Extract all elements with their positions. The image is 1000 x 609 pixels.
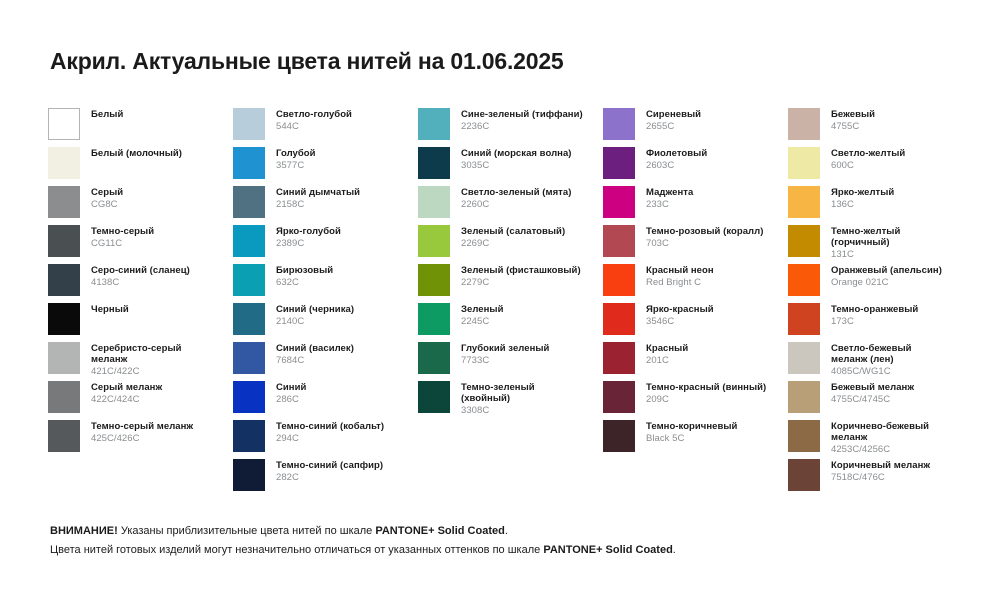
color-code: CG11C <box>91 238 154 249</box>
color-swatch[interactable] <box>233 303 265 335</box>
color-code: 2269C <box>461 238 565 249</box>
color-labels: Фиолетовый2603C <box>646 147 707 171</box>
color-code: 209C <box>646 394 766 405</box>
color-labels: Серо-синий (сланец)4138C <box>91 264 190 288</box>
color-swatch[interactable] <box>418 264 450 296</box>
color-swatch[interactable] <box>418 342 450 374</box>
color-labels: Светло-голубой544C <box>276 108 352 132</box>
color-name: Красный <box>646 343 688 354</box>
color-row[interactable]: Ярко-желтый136C <box>788 186 1000 225</box>
color-name: Светло-желтый <box>831 148 905 159</box>
color-swatch[interactable] <box>788 420 820 452</box>
color-labels: Коричневый меланж7518C/476C <box>831 459 930 483</box>
color-name: Синий дымчатый <box>276 187 360 198</box>
color-swatch[interactable] <box>788 381 820 413</box>
color-row[interactable]: Бежевый4755C <box>788 108 1000 147</box>
color-code: 233C <box>646 199 693 210</box>
color-labels: Оранжевый (апельсин)Orange 021C <box>831 264 942 288</box>
color-labels: Глубокий зеленый7733C <box>461 342 549 366</box>
color-row[interactable]: Фиолетовый2603C <box>603 147 788 186</box>
color-row[interactable]: Красный201C <box>603 342 788 381</box>
color-code: 600C <box>831 160 905 171</box>
color-labels: Темно-коричневыйBlack 5C <box>646 420 737 444</box>
footer-line-2-text: Цвета нитей готовых изделий могут незнач… <box>50 544 543 556</box>
color-code: 2245C <box>461 316 503 327</box>
color-row[interactable]: Синий286C <box>233 381 418 420</box>
color-code: 3308C <box>461 405 571 416</box>
color-labels: Красный201C <box>646 342 688 366</box>
color-row[interactable]: Черный <box>48 303 233 342</box>
color-labels: Маджента233C <box>646 186 693 210</box>
color-labels: Красный неонRed Bright C <box>646 264 714 288</box>
color-row[interactable]: Ярко-красный3546C <box>603 303 788 342</box>
color-labels: Темно-оранжевый173C <box>831 303 918 327</box>
color-row[interactable]: Белый (молочный) <box>48 147 233 186</box>
color-columns-container: БелыйБелый (молочный)СерыйCG8CТемно-серы… <box>48 108 1000 498</box>
footer-line-2: Цвета нитей готовых изделий могут незнач… <box>50 541 950 560</box>
color-row[interactable]: Коричнево-бежевый меланж4253C/4256C <box>788 420 1000 459</box>
color-swatch[interactable] <box>233 108 265 140</box>
color-code: 2603C <box>646 160 707 171</box>
color-name: Синий (василек) <box>276 343 354 354</box>
color-labels: Синий (морская волна)3035C <box>461 147 572 171</box>
color-labels: Темно-розовый (коралл)703C <box>646 225 763 249</box>
color-swatch[interactable] <box>603 303 635 335</box>
color-row[interactable]: Зеленый (фисташковый)2279C <box>418 264 603 303</box>
color-labels: Темно-синий (сапфир)282C <box>276 459 383 483</box>
color-name: Синий <box>276 382 306 393</box>
color-swatch[interactable] <box>48 108 80 140</box>
color-name: Черный <box>91 304 129 315</box>
color-code: Orange 021C <box>831 277 942 288</box>
color-row[interactable]: Зеленый (салатовый)2269C <box>418 225 603 264</box>
color-labels: Светло-желтый600C <box>831 147 905 171</box>
color-swatch[interactable] <box>418 225 450 257</box>
color-name: Темно-зеленый (хвойный) <box>461 382 571 404</box>
color-swatch[interactable] <box>418 303 450 335</box>
color-name: Темно-серый меланж <box>91 421 193 432</box>
color-row[interactable]: Темно-серый меланж425C/426C <box>48 420 233 459</box>
page-title: Акрил. Актуальные цвета нитей на 01.06.2… <box>50 48 564 75</box>
color-labels: Светло-бежевый меланж (лен)4085C/WG1C <box>831 342 941 378</box>
color-name: Белый (молочный) <box>91 148 182 159</box>
color-labels: Темно-зеленый (хвойный)3308C <box>461 381 571 417</box>
color-code: 3546C <box>646 316 714 327</box>
color-code: 282C <box>276 472 383 483</box>
color-labels: Синий дымчатый2158C <box>276 186 360 210</box>
color-name: Темно-розовый (коралл) <box>646 226 763 237</box>
color-code: 2655C <box>646 121 701 132</box>
color-labels: Черный <box>91 303 129 315</box>
footer-notice: ВНИМАНИЕ! Указаны приблизительные цвета … <box>50 522 950 560</box>
color-code: 7733C <box>461 355 549 366</box>
color-row[interactable]: Коричневый меланж7518C/476C <box>788 459 1000 498</box>
color-swatch[interactable] <box>418 381 450 413</box>
color-labels: Серебристо-серый меланж421C/422C <box>91 342 201 378</box>
color-swatch[interactable] <box>418 108 450 140</box>
color-name: Синий (морская волна) <box>461 148 572 159</box>
color-row[interactable]: Синий (морская волна)3035C <box>418 147 603 186</box>
color-name: Сине-зеленый (тиффани) <box>461 109 583 120</box>
color-labels: Зеленый (салатовый)2269C <box>461 225 565 249</box>
color-row[interactable]: Светло-бежевый меланж (лен)4085C/WG1C <box>788 342 1000 381</box>
color-row[interactable]: Светло-желтый600C <box>788 147 1000 186</box>
color-labels: Белый <box>91 108 123 120</box>
color-labels: Серый меланж422C/424C <box>91 381 162 405</box>
color-labels: Темно-серыйCG11C <box>91 225 154 249</box>
color-code: 2260C <box>461 199 571 210</box>
color-code: 2140C <box>276 316 354 327</box>
color-labels: Ярко-голубой2389C <box>276 225 341 249</box>
footer-attention-label: ВНИМАНИЕ! <box>50 525 118 537</box>
color-code: 422C/424C <box>91 394 162 405</box>
color-row[interactable]: Темно-розовый (коралл)703C <box>603 225 788 264</box>
color-swatch[interactable] <box>233 186 265 218</box>
color-row[interactable]: Темно-коричневыйBlack 5C <box>603 420 788 459</box>
color-name: Коричнево-бежевый меланж <box>831 421 941 443</box>
color-name: Белый <box>91 109 123 120</box>
color-name: Серо-синий (сланец) <box>91 265 190 276</box>
color-code: 3035C <box>461 160 572 171</box>
color-row[interactable]: Бирюзовый632C <box>233 264 418 303</box>
color-row[interactable]: Серый меланж422C/424C <box>48 381 233 420</box>
color-swatch[interactable] <box>603 420 635 452</box>
color-name: Светло-голубой <box>276 109 352 120</box>
color-labels: СерыйCG8C <box>91 186 123 210</box>
footer-line-1-end: . <box>505 525 508 537</box>
color-code: 632C <box>276 277 333 288</box>
color-name: Темно-серый <box>91 226 154 237</box>
footer-line-1: ВНИМАНИЕ! Указаны приблизительные цвета … <box>50 522 950 541</box>
color-labels: Светло-зеленый (мята)2260C <box>461 186 571 210</box>
color-name: Красный неон <box>646 265 714 276</box>
color-row[interactable]: Синий (черника)2140C <box>233 303 418 342</box>
color-code: 2279C <box>461 277 581 288</box>
color-row[interactable]: Зеленый2245C <box>418 303 603 342</box>
color-row[interactable]: Оранжевый (апельсин)Orange 021C <box>788 264 1000 303</box>
color-swatch[interactable] <box>48 186 80 218</box>
color-row[interactable]: СерыйCG8C <box>48 186 233 225</box>
color-code: 4253C/4256C <box>831 444 941 455</box>
color-labels: Белый (молочный) <box>91 147 182 159</box>
color-labels: Синий (василек)7684C <box>276 342 354 366</box>
color-name: Коричневый меланж <box>831 460 930 471</box>
color-swatch[interactable] <box>788 342 820 374</box>
color-swatch[interactable] <box>48 303 80 335</box>
color-row[interactable]: Светло-голубой544C <box>233 108 418 147</box>
column-warm-browns: Бежевый4755CСветло-желтый600CЯрко-желтый… <box>788 108 1000 498</box>
color-name: Темно-синий (сапфир) <box>276 460 383 471</box>
color-swatch[interactable] <box>603 147 635 179</box>
color-code: 4755C <box>831 121 875 132</box>
color-code: 2236C <box>461 121 583 132</box>
color-code: 131C <box>831 249 941 260</box>
color-name: Оранжевый (апельсин) <box>831 265 942 276</box>
column-greens: Сине-зеленый (тиффани)2236CСиний (морска… <box>418 108 603 420</box>
color-code: 425C/426C <box>91 433 193 444</box>
color-swatch[interactable] <box>603 264 635 296</box>
color-swatch[interactable] <box>48 342 80 374</box>
color-swatch[interactable] <box>233 225 265 257</box>
color-row[interactable]: Сине-зеленый (тиффани)2236C <box>418 108 603 147</box>
color-row[interactable]: Бежевый меланж4755C/4745C <box>788 381 1000 420</box>
color-row[interactable]: Сиреневый2655C <box>603 108 788 147</box>
color-name: Серый меланж <box>91 382 162 393</box>
color-row[interactable]: Темно-красный (винный)209C <box>603 381 788 420</box>
color-swatch[interactable] <box>233 459 265 491</box>
color-name: Зеленый <box>461 304 503 315</box>
color-swatch[interactable] <box>48 420 80 452</box>
footer-brand-2: PANTONE+ Solid Coated <box>543 544 672 556</box>
color-code: 2389C <box>276 238 341 249</box>
color-code: 4085C/WG1C <box>831 366 941 377</box>
color-code: CG8C <box>91 199 123 210</box>
color-swatch[interactable] <box>48 225 80 257</box>
color-labels: Ярко-красный3546C <box>646 303 714 327</box>
color-code: 3577C <box>276 160 316 171</box>
color-labels: Бирюзовый632C <box>276 264 333 288</box>
color-swatch[interactable] <box>233 342 265 374</box>
color-swatch[interactable] <box>233 264 265 296</box>
color-code: 173C <box>831 316 918 327</box>
color-name: Ярко-желтый <box>831 187 894 198</box>
color-labels: Бежевый меланж4755C/4745C <box>831 381 914 405</box>
color-labels: Темно-синий (кобальт)294C <box>276 420 384 444</box>
color-swatch[interactable] <box>788 108 820 140</box>
color-name: Бирюзовый <box>276 265 333 276</box>
color-swatch[interactable] <box>603 225 635 257</box>
color-labels: Коричнево-бежевый меланж4253C/4256C <box>831 420 941 456</box>
color-labels: Голубой3577C <box>276 147 316 171</box>
color-code: 286C <box>276 394 306 405</box>
color-swatch[interactable] <box>418 186 450 218</box>
color-code: 544C <box>276 121 352 132</box>
color-row[interactable]: Серо-синий (сланец)4138C <box>48 264 233 303</box>
color-swatch[interactable] <box>788 186 820 218</box>
color-code: 421C/422C <box>91 366 201 377</box>
color-code: 294C <box>276 433 384 444</box>
color-name: Бежевый меланж <box>831 382 914 393</box>
color-swatch[interactable] <box>788 459 820 491</box>
color-swatch[interactable] <box>788 303 820 335</box>
color-labels: Темно-серый меланж425C/426C <box>91 420 193 444</box>
color-name: Серебристо-серый меланж <box>91 343 201 365</box>
color-row[interactable]: Светло-зеленый (мята)2260C <box>418 186 603 225</box>
color-labels: Зеленый2245C <box>461 303 503 327</box>
color-row[interactable]: Серебристо-серый меланж421C/422C <box>48 342 233 381</box>
color-name: Сиреневый <box>646 109 701 120</box>
color-chart-page: Акрил. Актуальные цвета нитей на 01.06.2… <box>0 0 1000 609</box>
color-name: Темно-синий (кобальт) <box>276 421 384 432</box>
color-labels: Ярко-желтый136C <box>831 186 894 210</box>
color-swatch[interactable] <box>233 420 265 452</box>
color-name: Темно-желтый (горчичный) <box>831 226 941 248</box>
color-code: 7684C <box>276 355 354 366</box>
color-row[interactable]: Темно-синий (сапфир)282C <box>233 459 418 498</box>
color-row[interactable]: Темно-желтый (горчичный)131C <box>788 225 1000 264</box>
color-row[interactable]: Белый <box>48 108 233 147</box>
color-labels: Синий286C <box>276 381 306 405</box>
color-code: 2158C <box>276 199 360 210</box>
color-swatch[interactable] <box>48 381 80 413</box>
color-row[interactable]: Темно-зеленый (хвойный)3308C <box>418 381 603 420</box>
color-row[interactable]: Глубокий зеленый7733C <box>418 342 603 381</box>
color-swatch[interactable] <box>233 147 265 179</box>
color-swatch[interactable] <box>603 186 635 218</box>
color-swatch[interactable] <box>418 147 450 179</box>
color-row[interactable]: Синий (василек)7684C <box>233 342 418 381</box>
column-violets-reds: Сиреневый2655CФиолетовый2603CМаджента233… <box>603 108 788 459</box>
color-name: Глубокий зеленый <box>461 343 549 354</box>
color-swatch[interactable] <box>788 264 820 296</box>
color-name: Фиолетовый <box>646 148 707 159</box>
color-code: 201C <box>646 355 688 366</box>
color-row[interactable]: Голубой3577C <box>233 147 418 186</box>
color-swatch[interactable] <box>788 225 820 257</box>
color-swatch[interactable] <box>233 381 265 413</box>
color-name: Светло-зеленый (мята) <box>461 187 571 198</box>
color-code: Red Bright C <box>646 277 714 288</box>
color-labels: Синий (черника)2140C <box>276 303 354 327</box>
color-row[interactable]: Ярко-голубой2389C <box>233 225 418 264</box>
color-name: Ярко-красный <box>646 304 714 315</box>
color-name: Бежевый <box>831 109 875 120</box>
color-labels: Сине-зеленый (тиффани)2236C <box>461 108 583 132</box>
color-code: 4138C <box>91 277 190 288</box>
footer-line-1-text: Указаны приблизительные цвета нитей по ш… <box>118 525 376 537</box>
color-row[interactable]: Маджента233C <box>603 186 788 225</box>
color-swatch[interactable] <box>48 264 80 296</box>
color-name: Зеленый (салатовый) <box>461 226 565 237</box>
color-row[interactable]: Темно-оранжевый173C <box>788 303 1000 342</box>
color-name: Темно-оранжевый <box>831 304 918 315</box>
color-labels: Темно-красный (винный)209C <box>646 381 766 405</box>
color-name: Голубой <box>276 148 316 159</box>
color-code: 703C <box>646 238 763 249</box>
color-code: 7518C/476C <box>831 472 930 483</box>
color-name: Серый <box>91 187 123 198</box>
color-code: 136C <box>831 199 894 210</box>
color-row[interactable]: Красный неонRed Bright C <box>603 264 788 303</box>
footer-brand-1: PANTONE+ Solid Coated <box>375 525 504 537</box>
color-name: Маджента <box>646 187 693 198</box>
color-name: Зеленый (фисташковый) <box>461 265 581 276</box>
color-labels: Темно-желтый (горчичный)131C <box>831 225 941 261</box>
color-labels: Зеленый (фисташковый)2279C <box>461 264 581 288</box>
color-code: Black 5C <box>646 433 737 444</box>
color-name: Синий (черника) <box>276 304 354 315</box>
footer-line-2-end: . <box>673 544 676 556</box>
color-row[interactable]: Темно-синий (кобальт)294C <box>233 420 418 459</box>
color-name: Темно-коричневый <box>646 421 737 432</box>
color-name: Светло-бежевый меланж (лен) <box>831 343 941 365</box>
color-name: Темно-красный (винный) <box>646 382 766 393</box>
color-name: Ярко-голубой <box>276 226 341 237</box>
color-swatch[interactable] <box>603 381 635 413</box>
color-swatch[interactable] <box>603 342 635 374</box>
color-labels: Бежевый4755C <box>831 108 875 132</box>
color-code: 4755C/4745C <box>831 394 914 405</box>
color-swatch[interactable] <box>603 108 635 140</box>
column-blues: Светло-голубой544CГолубой3577CСиний дымч… <box>233 108 418 498</box>
color-swatch[interactable] <box>788 147 820 179</box>
color-row[interactable]: Темно-серыйCG11C <box>48 225 233 264</box>
color-labels: Сиреневый2655C <box>646 108 701 132</box>
color-swatch[interactable] <box>48 147 80 179</box>
column-neutrals: БелыйБелый (молочный)СерыйCG8CТемно-серы… <box>48 108 233 459</box>
color-row[interactable]: Синий дымчатый2158C <box>233 186 418 225</box>
